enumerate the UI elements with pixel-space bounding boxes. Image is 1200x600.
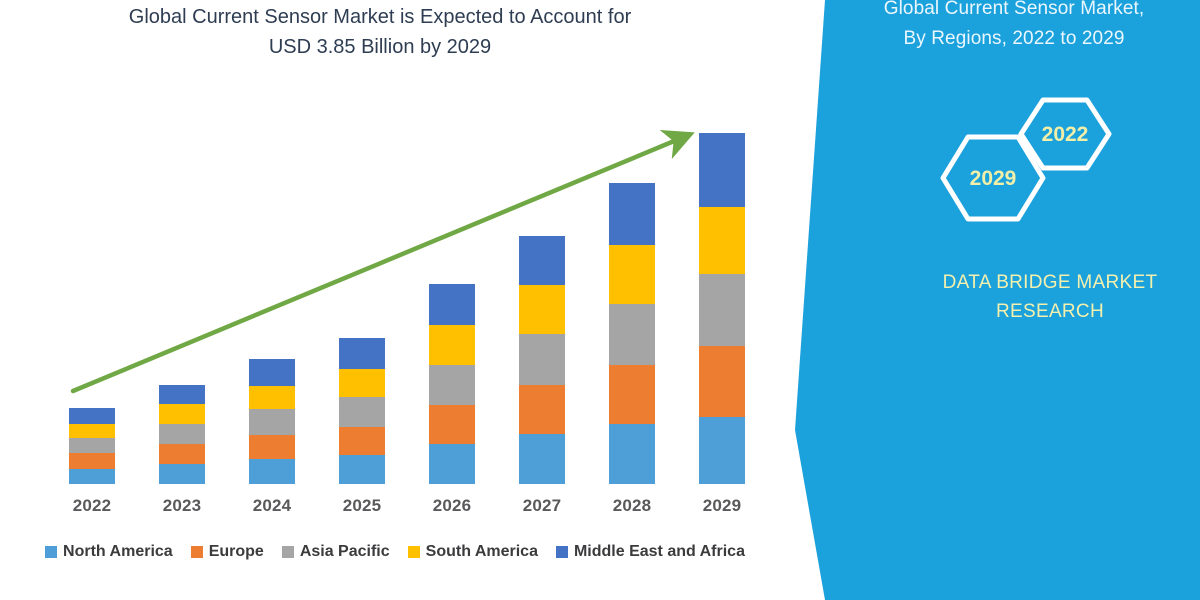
bar-segment[interactable] bbox=[249, 359, 295, 385]
x-tick-2026: 2026 bbox=[429, 496, 475, 516]
bar-segment[interactable] bbox=[69, 469, 115, 485]
bar-segment[interactable] bbox=[339, 397, 385, 426]
bar-segment[interactable] bbox=[699, 346, 745, 416]
bar-group bbox=[0, 0, 790, 520]
bar-segment[interactable] bbox=[429, 444, 475, 484]
bar-segment[interactable] bbox=[609, 183, 655, 245]
x-tick-2028: 2028 bbox=[609, 496, 655, 516]
chart-legend: North AmericaEuropeAsia PacificSouth Ame… bbox=[0, 538, 790, 566]
legend-swatch-icon bbox=[191, 546, 203, 558]
bar-segment[interactable] bbox=[159, 444, 205, 464]
legend-swatch-icon bbox=[408, 546, 420, 558]
bar-segment[interactable] bbox=[159, 424, 205, 444]
bar-segment[interactable] bbox=[69, 438, 115, 453]
legend-item[interactable]: Asia Pacific bbox=[282, 543, 390, 561]
bar-segment[interactable] bbox=[519, 236, 565, 285]
bar-2022[interactable] bbox=[69, 408, 115, 484]
bar-segment[interactable] bbox=[249, 459, 295, 484]
bar-segment[interactable] bbox=[429, 325, 475, 364]
bar-segment[interactable] bbox=[519, 434, 565, 484]
legend-label: Europe bbox=[209, 543, 264, 561]
bar-2025[interactable] bbox=[339, 338, 385, 484]
hexagon-logo: 2029 2022 bbox=[925, 90, 1125, 230]
bar-segment[interactable] bbox=[69, 453, 115, 469]
bar-segment[interactable] bbox=[69, 408, 115, 424]
bar-segment[interactable] bbox=[339, 455, 385, 484]
bar-segment[interactable] bbox=[699, 274, 745, 346]
bar-2026[interactable] bbox=[429, 284, 475, 484]
legend-swatch-icon bbox=[282, 546, 294, 558]
bar-segment[interactable] bbox=[429, 284, 475, 325]
x-tick-2023: 2023 bbox=[159, 496, 205, 516]
brand-heading-line-2: By Regions, 2022 to 2029 bbox=[828, 24, 1200, 54]
bar-2029[interactable] bbox=[699, 133, 745, 484]
x-tick-2027: 2027 bbox=[519, 496, 565, 516]
bar-segment[interactable] bbox=[159, 464, 205, 484]
bar-segment[interactable] bbox=[519, 385, 565, 434]
x-tick-2022: 2022 bbox=[69, 496, 115, 516]
legend-item[interactable]: South America bbox=[408, 543, 538, 561]
brand-heading: Global Current Sensor Market, By Regions… bbox=[828, 0, 1200, 54]
bar-segment[interactable] bbox=[159, 385, 205, 404]
bar-segment[interactable] bbox=[249, 409, 295, 435]
bar-segment[interactable] bbox=[339, 338, 385, 369]
bar-segment[interactable] bbox=[519, 334, 565, 384]
bar-segment[interactable] bbox=[339, 369, 385, 397]
hexagon-2029-label: 2029 bbox=[970, 167, 1017, 190]
bar-segment[interactable] bbox=[609, 365, 655, 424]
legend-item[interactable]: Middle East and Africa bbox=[556, 543, 745, 561]
bar-segment[interactable] bbox=[519, 285, 565, 334]
bar-segment[interactable] bbox=[699, 207, 745, 274]
x-tick-2025: 2025 bbox=[339, 496, 385, 516]
x-tick-2024: 2024 bbox=[249, 496, 295, 516]
legend-label: North America bbox=[63, 543, 173, 561]
legend-item[interactable]: North America bbox=[45, 543, 173, 561]
bar-2027[interactable] bbox=[519, 236, 565, 484]
legend-item[interactable]: Europe bbox=[191, 543, 264, 561]
bar-segment[interactable] bbox=[249, 435, 295, 460]
bar-segment[interactable] bbox=[69, 424, 115, 439]
legend-label: Middle East and Africa bbox=[574, 543, 745, 561]
bar-segment[interactable] bbox=[609, 304, 655, 364]
stacked-bar-chart bbox=[0, 0, 790, 520]
legend-swatch-icon bbox=[45, 546, 57, 558]
bar-segment[interactable] bbox=[339, 427, 385, 455]
x-tick-2029: 2029 bbox=[699, 496, 745, 516]
bar-segment[interactable] bbox=[429, 405, 475, 444]
bar-segment[interactable] bbox=[609, 424, 655, 484]
brand-name-line-1: DATA BRIDGE MARKET bbox=[900, 268, 1200, 297]
brand-heading-line-1: Global Current Sensor Market, bbox=[828, 0, 1200, 24]
bar-segment[interactable] bbox=[159, 404, 205, 424]
infographic-canvas: Global Current Sensor Market is Expected… bbox=[0, 0, 1200, 600]
bar-segment[interactable] bbox=[609, 245, 655, 304]
hexagon-2022-label: 2022 bbox=[1042, 123, 1089, 146]
x-axis-labels: 20222023202420252026202720282029 bbox=[0, 496, 790, 526]
bar-2028[interactable] bbox=[609, 183, 655, 484]
legend-swatch-icon bbox=[556, 546, 568, 558]
bar-segment[interactable] bbox=[699, 417, 745, 484]
bar-segment[interactable] bbox=[699, 133, 745, 207]
bar-2023[interactable] bbox=[159, 385, 205, 484]
bar-segment[interactable] bbox=[249, 386, 295, 410]
legend-label: Asia Pacific bbox=[300, 543, 390, 561]
bar-segment[interactable] bbox=[429, 365, 475, 405]
bar-2024[interactable] bbox=[249, 359, 295, 484]
legend-label: South America bbox=[426, 543, 538, 561]
brand-name: DATA BRIDGE MARKET RESEARCH bbox=[900, 268, 1200, 326]
brand-name-line-2: RESEARCH bbox=[900, 297, 1200, 326]
